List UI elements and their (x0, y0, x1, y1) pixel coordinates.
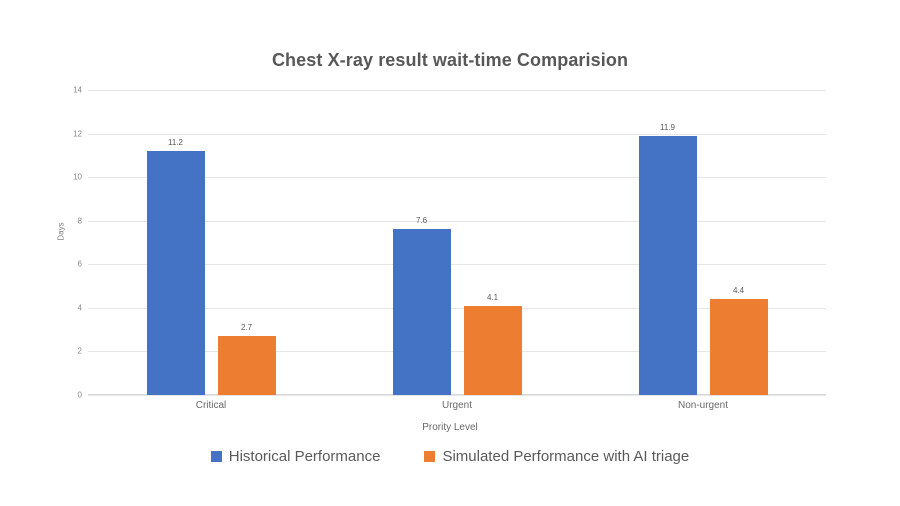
gridline (88, 395, 826, 396)
gridline (88, 134, 826, 135)
legend-item-1[interactable]: Historical Performance (211, 448, 381, 465)
y-axis-title: Days (57, 215, 66, 249)
bar-value-label: 7.6 (416, 216, 427, 225)
bar-non-urgent-series-2[interactable] (710, 299, 768, 395)
y-axis-tick-label: 0 (42, 391, 82, 400)
legend-swatch-icon (424, 451, 435, 462)
legend-label: Historical Performance (229, 448, 381, 465)
y-axis-tick-label: 6 (42, 260, 82, 269)
y-axis-tick-label: 14 (42, 86, 82, 95)
bar-critical-series-2[interactable] (218, 336, 276, 395)
bar-critical-series-1[interactable] (147, 151, 205, 395)
gridline (88, 90, 826, 91)
bar-non-urgent-series-1[interactable] (639, 136, 697, 395)
y-axis-tick-label: 2 (42, 347, 82, 356)
y-axis-tick-label: 12 (42, 129, 82, 138)
x-axis-tick-label: Urgent (442, 400, 472, 411)
bar-urgent-series-2[interactable] (464, 306, 522, 395)
y-axis-tick-label: 10 (42, 173, 82, 182)
bar-value-label: 11.9 (660, 123, 675, 132)
plot-area: 11.22.77.64.111.94.4 (88, 90, 826, 395)
legend-swatch-icon (211, 451, 222, 462)
bar-value-label: 4.1 (487, 293, 498, 302)
bar-urgent-series-1[interactable] (393, 229, 451, 395)
x-axis-title: Prority Level (0, 422, 900, 433)
legend-label: Simulated Performance with AI triage (442, 448, 689, 465)
x-axis-tick-label: Critical (196, 400, 227, 411)
bar-value-label: 11.2 (168, 138, 183, 147)
chart-legend: Historical PerformanceSimulated Performa… (0, 448, 900, 465)
bar-value-label: 2.7 (241, 323, 252, 332)
legend-item-2[interactable]: Simulated Performance with AI triage (424, 448, 689, 465)
chart-container: Chest X-ray result wait-time Comparision… (0, 0, 900, 506)
chart-title: Chest X-ray result wait-time Comparision (0, 50, 900, 71)
y-axis-tick-label: 4 (42, 303, 82, 312)
x-axis-tick-label: Non-urgent (678, 400, 728, 411)
bar-value-label: 4.4 (733, 286, 744, 295)
